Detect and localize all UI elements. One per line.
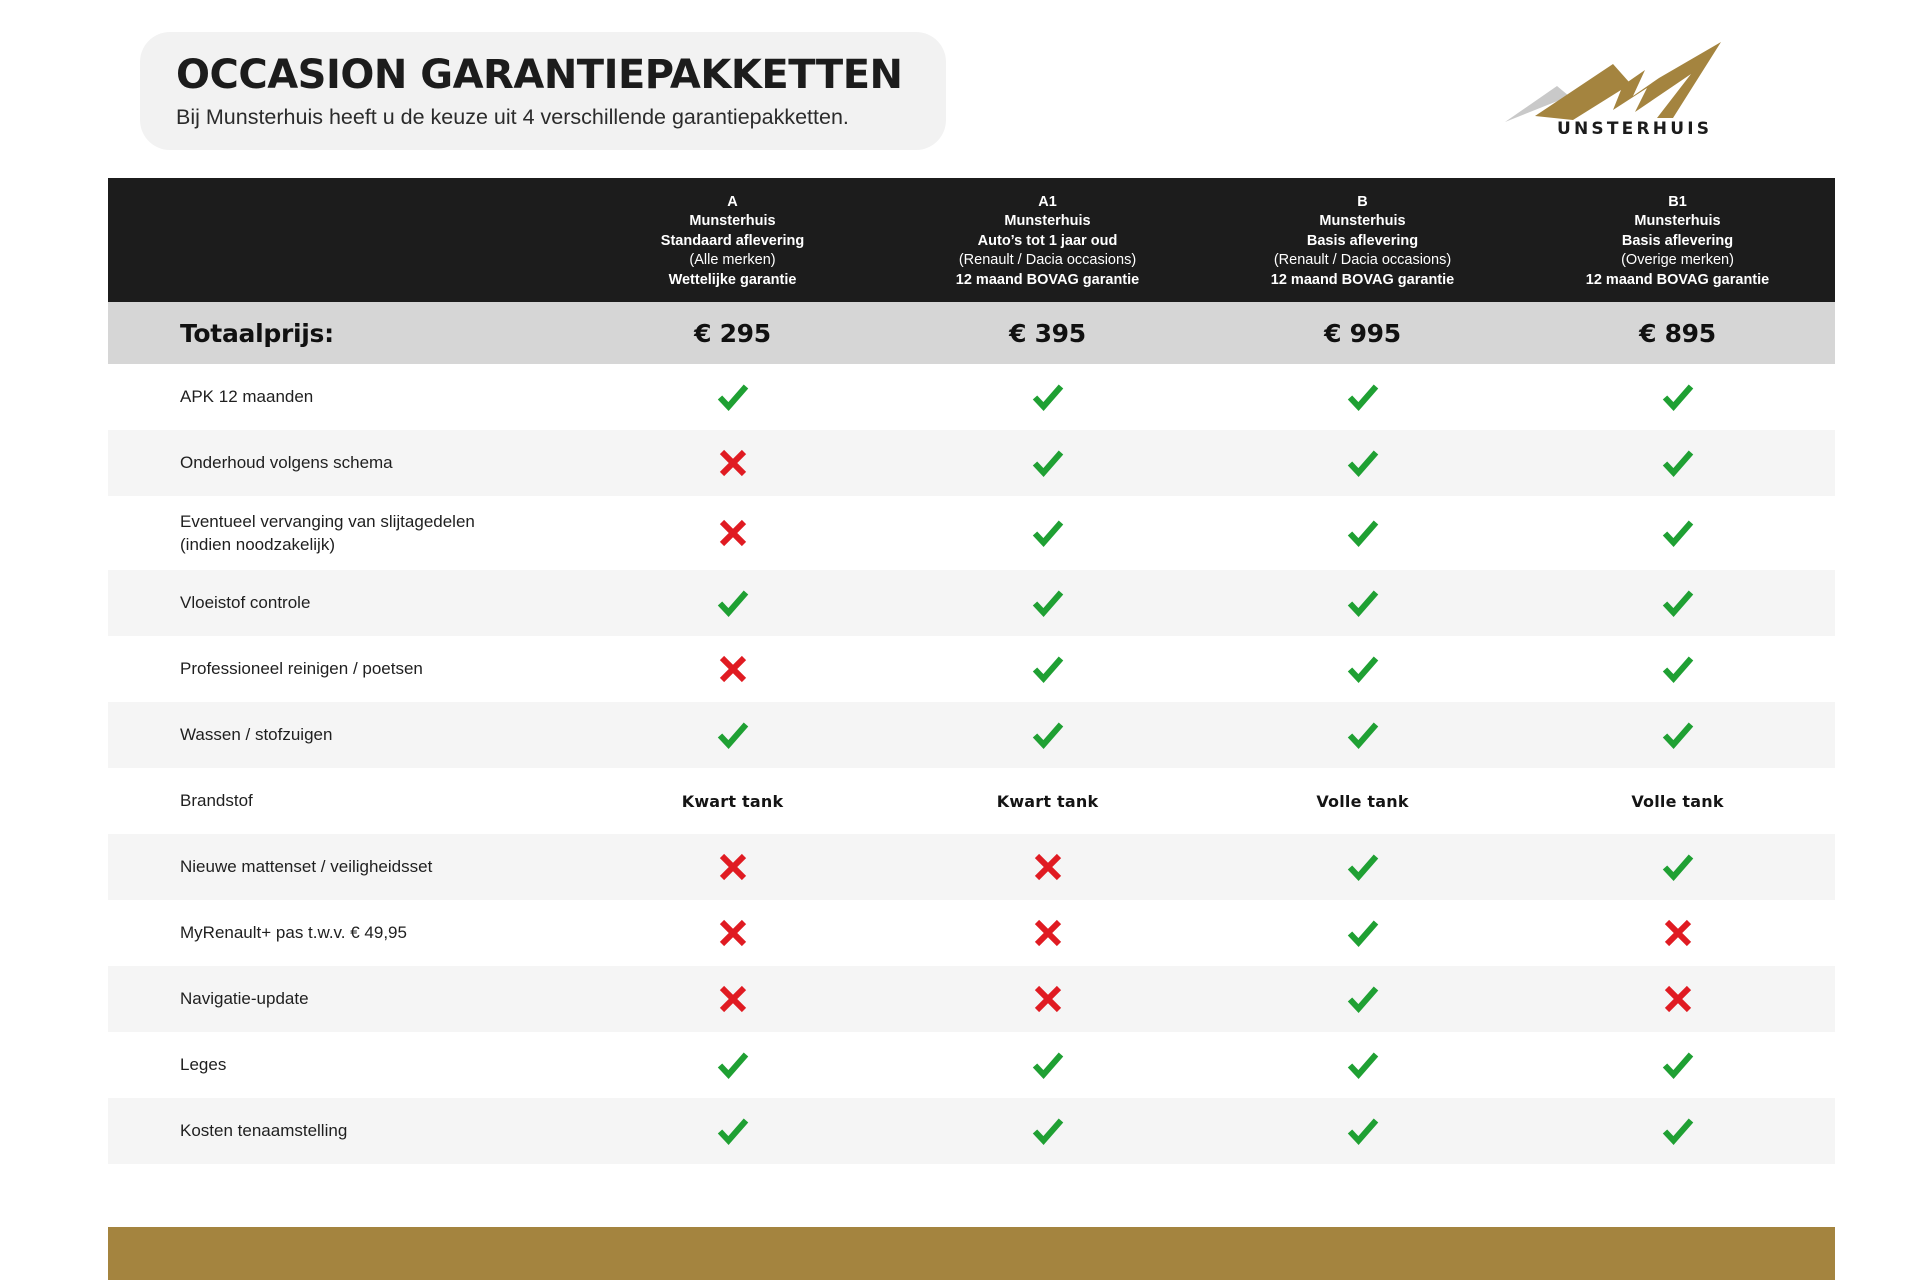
column-line4: (Renault / Dacia occasions) (890, 251, 1205, 270)
cell-text: Kwart tank (997, 792, 1099, 811)
table-row: Onderhoud volgens schema (108, 430, 1835, 496)
row-label: Onderhoud volgens schema (108, 451, 575, 474)
column-header-b1: B1 Munsterhuis Basis aflevering (Overige… (1520, 193, 1835, 302)
column-code: B1 (1520, 193, 1835, 212)
cross-icon (575, 850, 890, 884)
cross-icon (575, 982, 890, 1016)
cell-value-b1: Volle tank (1520, 792, 1835, 811)
cross-icon (575, 652, 890, 686)
row-label: Vloeistof controle (108, 591, 575, 614)
check-icon (1520, 718, 1835, 752)
page-subtitle: Bij Munsterhuis heeft u de keuze uit 4 v… (176, 103, 912, 132)
column-line4: (Renault / Dacia occasions) (1205, 251, 1520, 270)
check-icon (575, 586, 890, 620)
row-label: MyRenault+ pas t.w.v. € 49,95 (108, 921, 575, 944)
check-icon (1205, 1114, 1520, 1148)
price-b: € 995 (1205, 319, 1520, 348)
check-icon (1205, 652, 1520, 686)
table-row: BrandstofKwart tankKwart tankVolle tankV… (108, 768, 1835, 834)
column-code: B (1205, 193, 1520, 212)
table-row: MyRenault+ pas t.w.v. € 49,95 (108, 900, 1835, 966)
column-header-a: A Munsterhuis Standaard aflevering (Alle… (575, 193, 890, 302)
column-line4: (Overige merken) (1520, 251, 1835, 270)
check-icon (1205, 850, 1520, 884)
table-row: Navigatie-update (108, 966, 1835, 1032)
check-icon (890, 446, 1205, 480)
check-icon (890, 380, 1205, 414)
logo-wordmark: UNSTERHUIS (1557, 119, 1712, 139)
column-brand: Munsterhuis (1205, 212, 1520, 231)
footer-gold-bar (108, 1227, 1835, 1280)
check-icon (890, 1048, 1205, 1082)
cell-text: Volle tank (1316, 792, 1408, 811)
check-icon (1205, 1048, 1520, 1082)
cross-icon (890, 982, 1205, 1016)
cell-text: Kwart tank (682, 792, 784, 811)
cross-icon (890, 916, 1205, 950)
total-price-row: Totaalprijs: € 295 € 395 € 995 € 895 (108, 302, 1835, 364)
check-icon (890, 1114, 1205, 1148)
check-icon (890, 516, 1205, 550)
cross-icon (575, 916, 890, 950)
column-line3: Auto’s tot 1 jaar oud (890, 232, 1205, 251)
table-header-row: A Munsterhuis Standaard aflevering (Alle… (108, 178, 1835, 302)
check-icon (1520, 1048, 1835, 1082)
column-line5: Wettelijke garantie (575, 271, 890, 290)
column-code: A (575, 193, 890, 212)
page-header: OCCASION GARANTIEPAKKETTEN Bij Munsterhu… (0, 0, 1920, 150)
price-a1: € 395 (890, 319, 1205, 348)
garantiepakketten-page: OCCASION GARANTIEPAKKETTEN Bij Munsterhu… (0, 0, 1920, 1280)
check-icon (1520, 1114, 1835, 1148)
check-icon (1205, 718, 1520, 752)
cross-icon (890, 850, 1205, 884)
total-price-label: Totaalprijs: (108, 319, 575, 348)
table-row: APK 12 maanden (108, 364, 1835, 430)
cell-text: Volle tank (1631, 792, 1723, 811)
table-row: Wassen / stofzuigen (108, 702, 1835, 768)
row-label: Brandstof (108, 789, 575, 812)
munsterhuis-logo: UNSTERHUIS (1495, 30, 1745, 140)
check-icon (890, 586, 1205, 620)
check-icon (1520, 850, 1835, 884)
price-a: € 295 (575, 319, 890, 348)
table-row: Kosten tenaamstelling (108, 1098, 1835, 1164)
cross-icon (575, 516, 890, 550)
row-label: Professioneel reinigen / poetsen (108, 657, 575, 680)
table-row: Vloeistof controle (108, 570, 1835, 636)
check-icon (575, 380, 890, 414)
column-line5: 12 maand BOVAG garantie (1520, 271, 1835, 290)
check-icon (1205, 380, 1520, 414)
check-icon (890, 652, 1205, 686)
title-card: OCCASION GARANTIEPAKKETTEN Bij Munsterhu… (140, 32, 946, 150)
check-icon (1520, 652, 1835, 686)
column-brand: Munsterhuis (575, 212, 890, 231)
column-line5: 12 maand BOVAG garantie (890, 271, 1205, 290)
check-icon (890, 718, 1205, 752)
check-icon (1520, 516, 1835, 550)
cross-icon (1520, 982, 1835, 1016)
table-row: Professioneel reinigen / poetsen (108, 636, 1835, 702)
row-label: Navigatie-update (108, 987, 575, 1010)
column-line5: 12 maand BOVAG garantie (1205, 271, 1520, 290)
check-icon (575, 718, 890, 752)
check-icon (575, 1048, 890, 1082)
column-code: A1 (890, 193, 1205, 212)
check-icon (1520, 446, 1835, 480)
column-line3: Basis aflevering (1520, 232, 1835, 251)
price-b1: € 895 (1520, 319, 1835, 348)
page-title: OCCASION GARANTIEPAKKETTEN (176, 54, 912, 96)
check-icon (1205, 446, 1520, 480)
column-line3: Standaard aflevering (575, 232, 890, 251)
cross-icon (1520, 916, 1835, 950)
check-icon (1205, 916, 1520, 950)
row-label: Nieuwe mattenset / veiligheidsset (108, 855, 575, 878)
column-line4: (Alle merken) (575, 251, 890, 270)
comparison-table: A Munsterhuis Standaard aflevering (Alle… (108, 178, 1835, 1164)
cross-icon (575, 446, 890, 480)
table-row: Leges (108, 1032, 1835, 1098)
check-icon (1520, 586, 1835, 620)
cell-value-a: Kwart tank (575, 792, 890, 811)
check-icon (575, 1114, 890, 1148)
check-icon (1205, 982, 1520, 1016)
cell-value-a1: Kwart tank (890, 792, 1205, 811)
column-header-b: B Munsterhuis Basis aflevering (Renault … (1205, 193, 1520, 302)
row-label: Kosten tenaamstelling (108, 1119, 575, 1142)
cell-value-b: Volle tank (1205, 792, 1520, 811)
check-icon (1205, 586, 1520, 620)
column-brand: Munsterhuis (1520, 212, 1835, 231)
row-label: APK 12 maanden (108, 385, 575, 408)
table-row: Nieuwe mattenset / veiligheidsset (108, 834, 1835, 900)
row-label: Eventueel vervanging van slijtagedelen(i… (108, 510, 575, 557)
table-row: Eventueel vervanging van slijtagedelen(i… (108, 496, 1835, 570)
row-label: Leges (108, 1053, 575, 1076)
check-icon (1205, 516, 1520, 550)
column-header-a1: A1 Munsterhuis Auto’s tot 1 jaar oud (Re… (890, 193, 1205, 302)
column-brand: Munsterhuis (890, 212, 1205, 231)
row-label: Wassen / stofzuigen (108, 723, 575, 746)
check-icon (1520, 380, 1835, 414)
table-body: APK 12 maandenOnderhoud volgens schemaEv… (108, 364, 1835, 1164)
column-line3: Basis aflevering (1205, 232, 1520, 251)
